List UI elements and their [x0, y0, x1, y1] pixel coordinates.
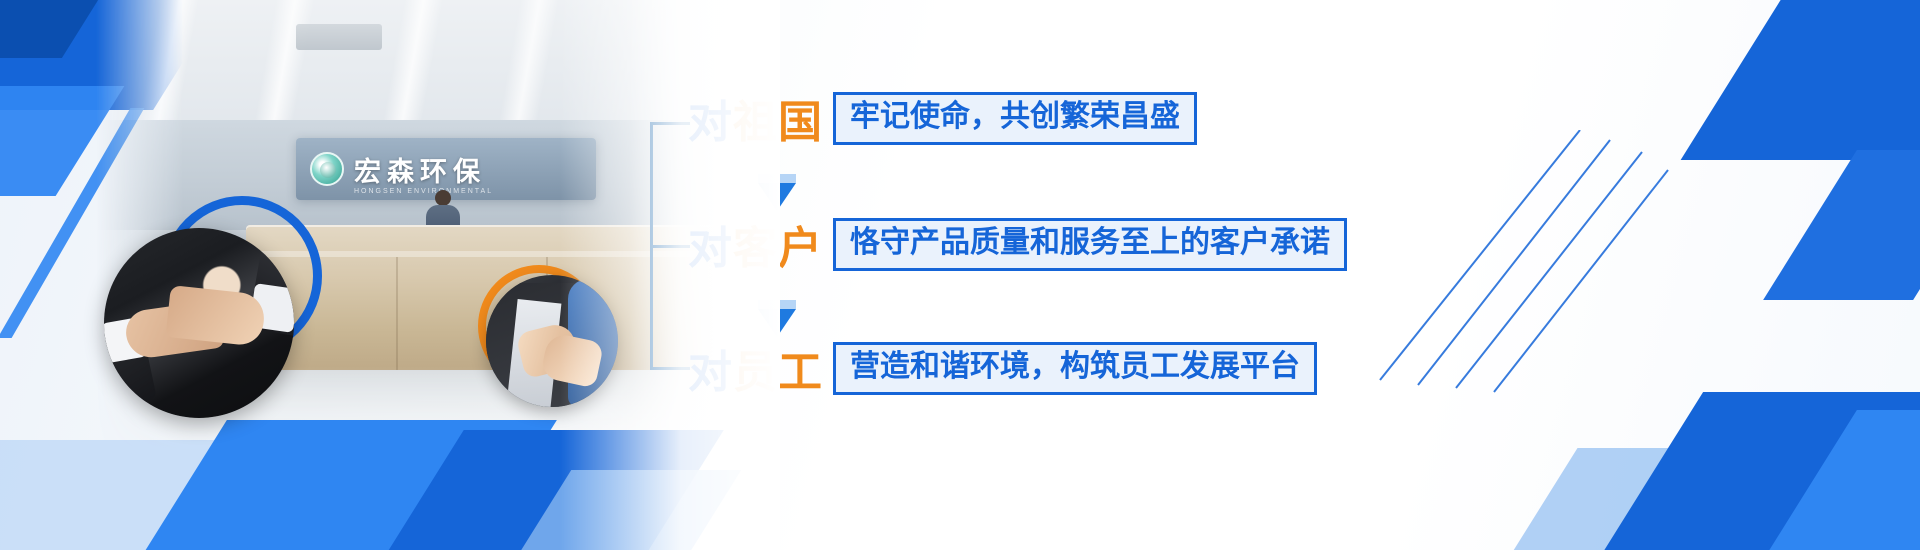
value-row-3: 对员工 营造和谐环境，构筑员工发展平台	[688, 342, 1317, 395]
ceiling-duct	[296, 24, 382, 50]
decor-shape-top-right-primary	[1681, 0, 1920, 160]
value-statement-3: 营造和谐环境，构筑员工发展平台	[833, 342, 1317, 395]
company-logo-subtext: HONGSEN ENVIRONMENTAL	[354, 188, 493, 195]
staff-head	[435, 190, 451, 206]
counter-seam	[396, 257, 398, 375]
value-statement-2: 恪守产品质量和服务至上的客户承诺	[833, 218, 1347, 271]
value-row-2: 对客户 恪守产品质量和服务至上的客户承诺	[688, 218, 1347, 271]
globe-logo-icon	[310, 152, 344, 186]
hand-right	[166, 285, 267, 347]
photo-fade-overlay	[560, 0, 780, 550]
corporate-values-banner: 宏森环保 HONGSEN ENVIRONMENTAL	[0, 0, 1920, 550]
decor-shape-right-mid	[1763, 150, 1920, 300]
company-logo-text: 宏森环保	[354, 150, 486, 189]
handshake-photo	[104, 228, 294, 418]
value-statement-1: 牢记使命，共创繁荣昌盛	[833, 92, 1197, 145]
